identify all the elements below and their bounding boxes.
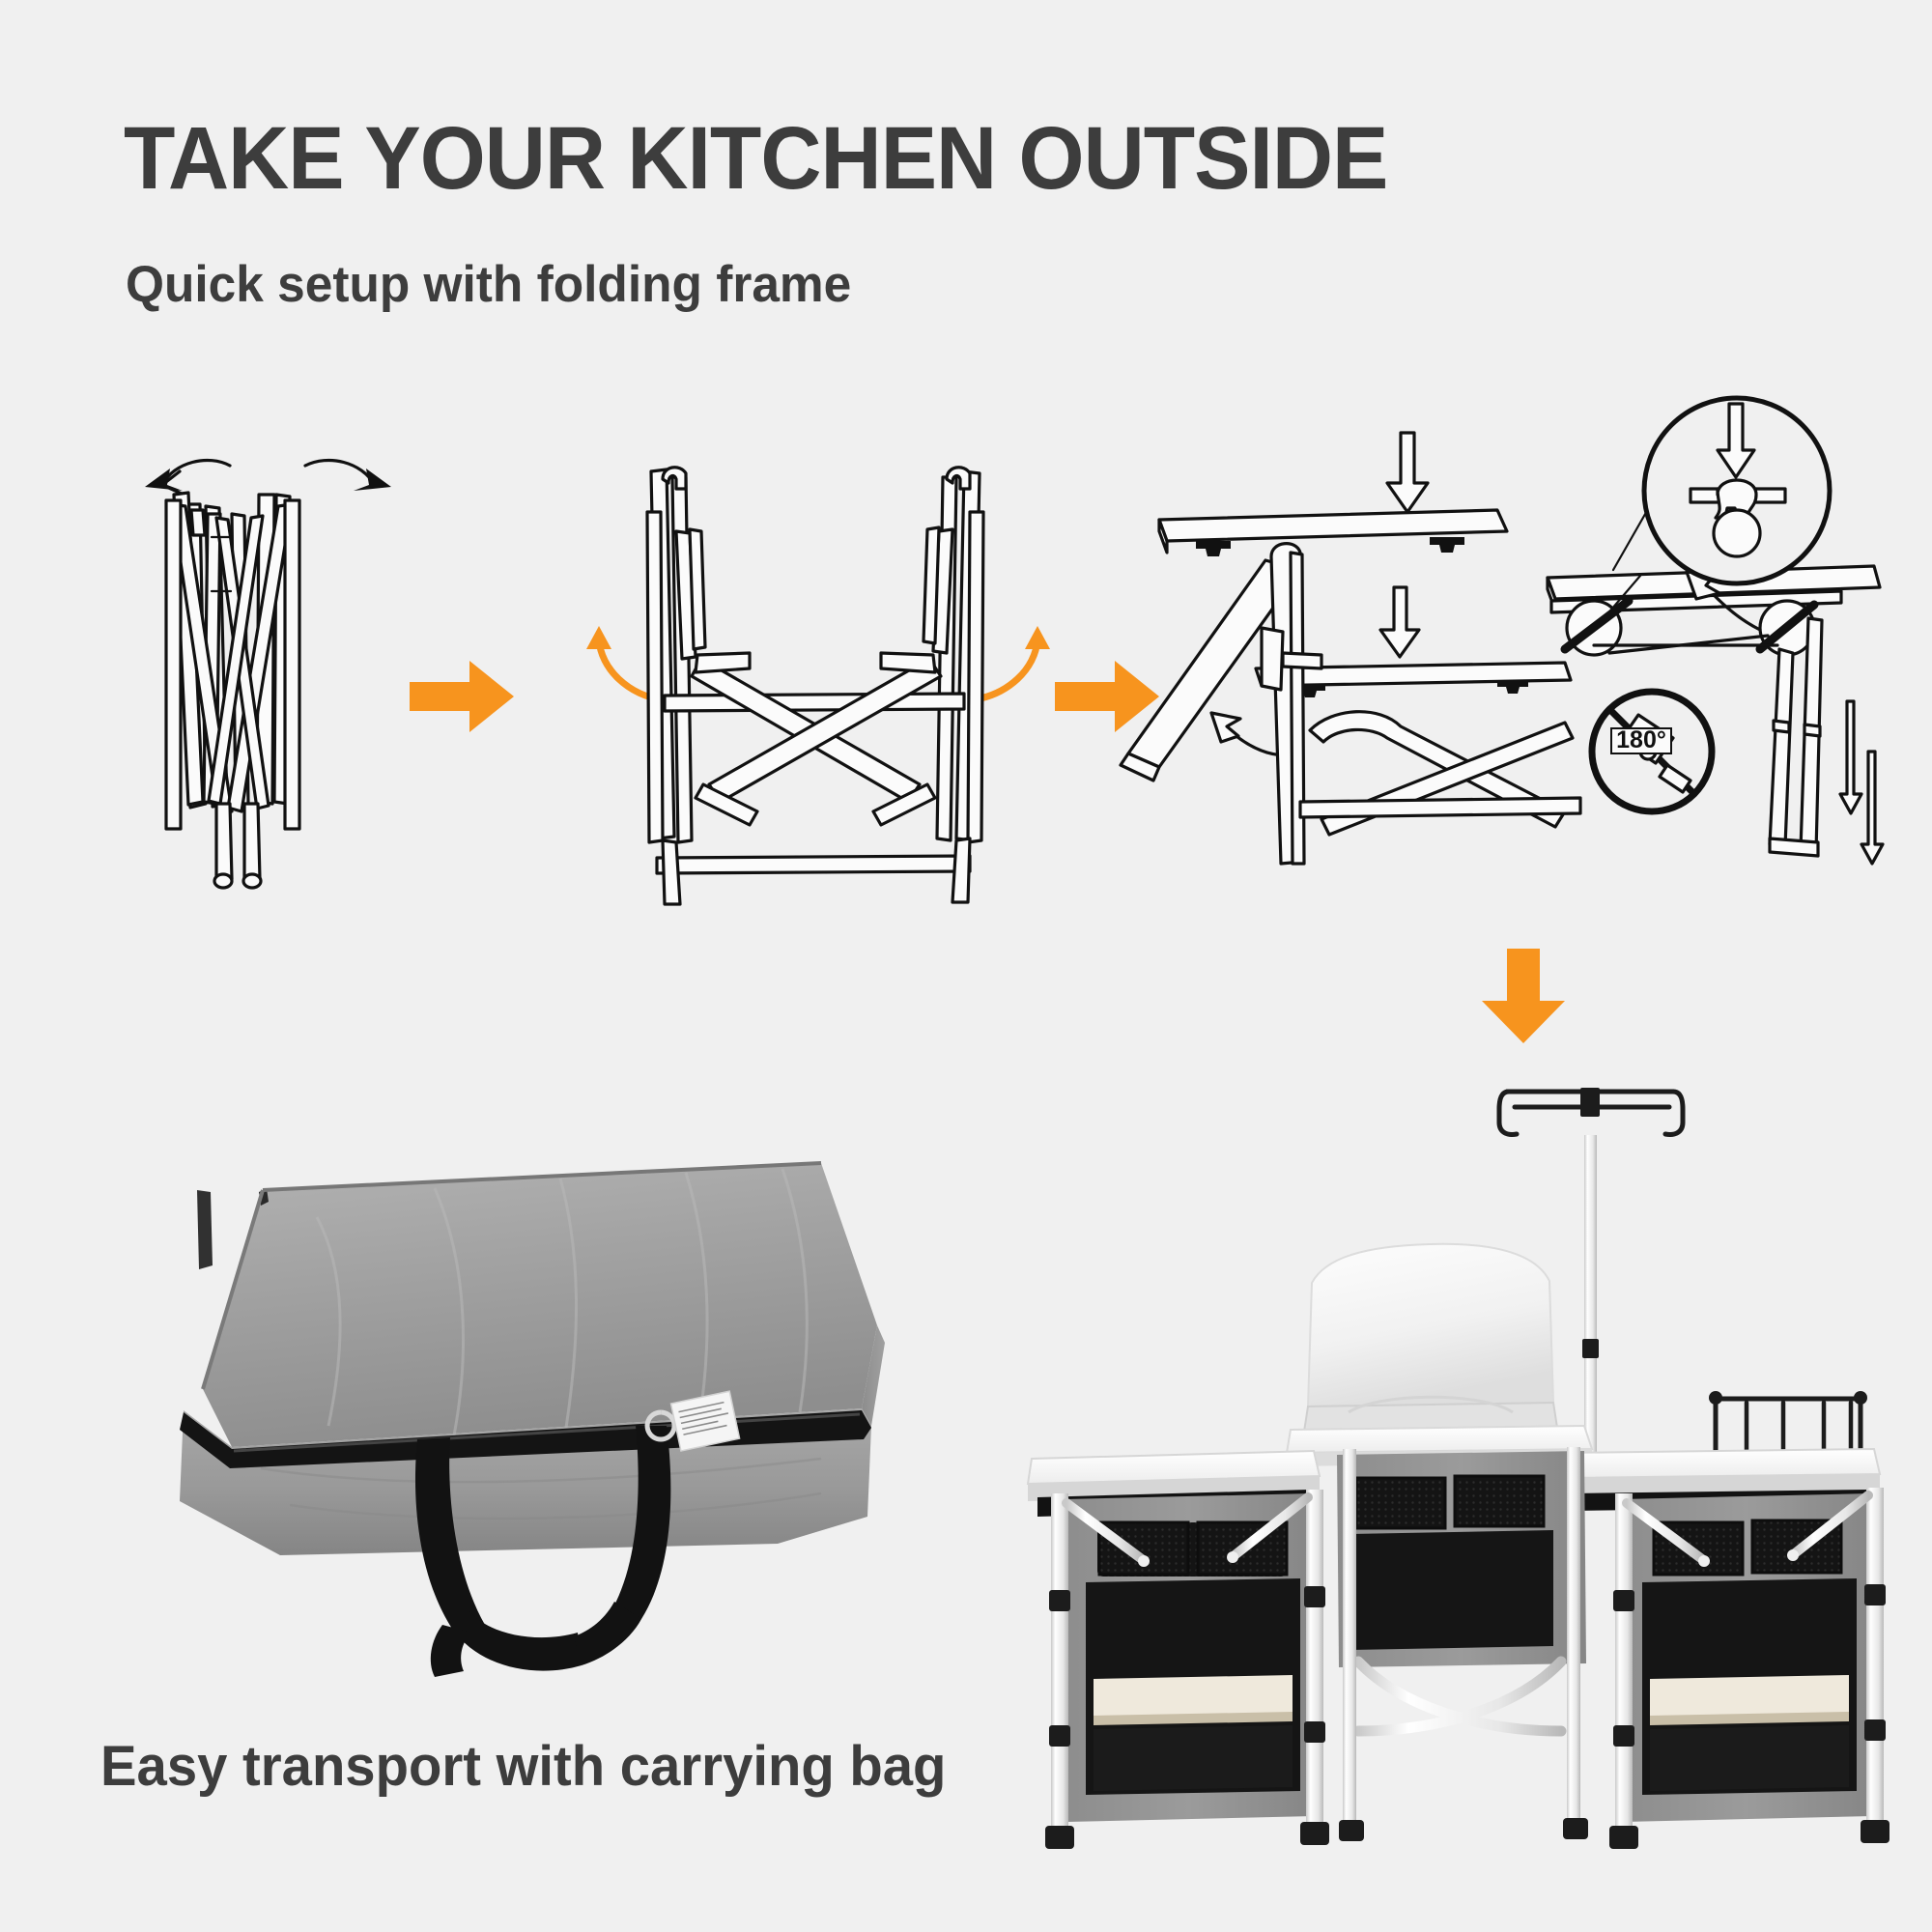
diagonal-link (1594, 636, 1777, 653)
page-title: TAKE YOUR KITCHEN OUTSIDE (124, 114, 1387, 203)
step-arrow-3-down (1480, 949, 1569, 1045)
bag-zipper-pull (197, 1190, 213, 1269)
left-cabinet (1065, 1493, 1314, 1822)
infographic-canvas: TAKE YOUR KITCHEN OUTSIDE Quick setup wi… (0, 0, 1932, 1932)
rear-x-brace (1300, 712, 1580, 835)
rotation-limit-label: 180° (1616, 726, 1666, 753)
step-2-frame-opening (580, 454, 1053, 908)
step-arrow-1 (410, 659, 516, 734)
callout-rotation-limit: 180° (1592, 692, 1712, 811)
bag-top-face (203, 1163, 877, 1447)
center-cabinet (1337, 1451, 1586, 1667)
subtitle: Quick setup with folding frame (126, 259, 851, 310)
windscreen (1304, 1244, 1557, 1432)
camp-kitchen-product-photo (1024, 1053, 1922, 1903)
press-down-arrow-upper (1387, 433, 1428, 512)
hook-rail-joint-left (1709, 1391, 1722, 1405)
step-3-tabletops: 180° (1111, 386, 1884, 898)
right-cabinet (1621, 1493, 1872, 1822)
frame-tubes (172, 493, 292, 815)
unfold-arrow-right (305, 460, 375, 485)
carrying-bag-photo (145, 1150, 908, 1719)
frame-feet (214, 804, 261, 888)
center-cabinet-door (1350, 1530, 1553, 1650)
leg-extend-arrow-1 (1840, 701, 1861, 813)
x-brace (692, 653, 941, 825)
center-x-brace (1358, 1662, 1561, 1816)
step-1-folded-frame (116, 444, 435, 927)
hook-rail-joint-right (1854, 1391, 1867, 1405)
bottom-caption: Easy transport with carrying bag (100, 1739, 946, 1795)
frame-feet (1045, 1818, 1889, 1849)
leg-extend-arrow-2 (1861, 752, 1883, 864)
press-down-arrow-lower (1380, 587, 1419, 657)
